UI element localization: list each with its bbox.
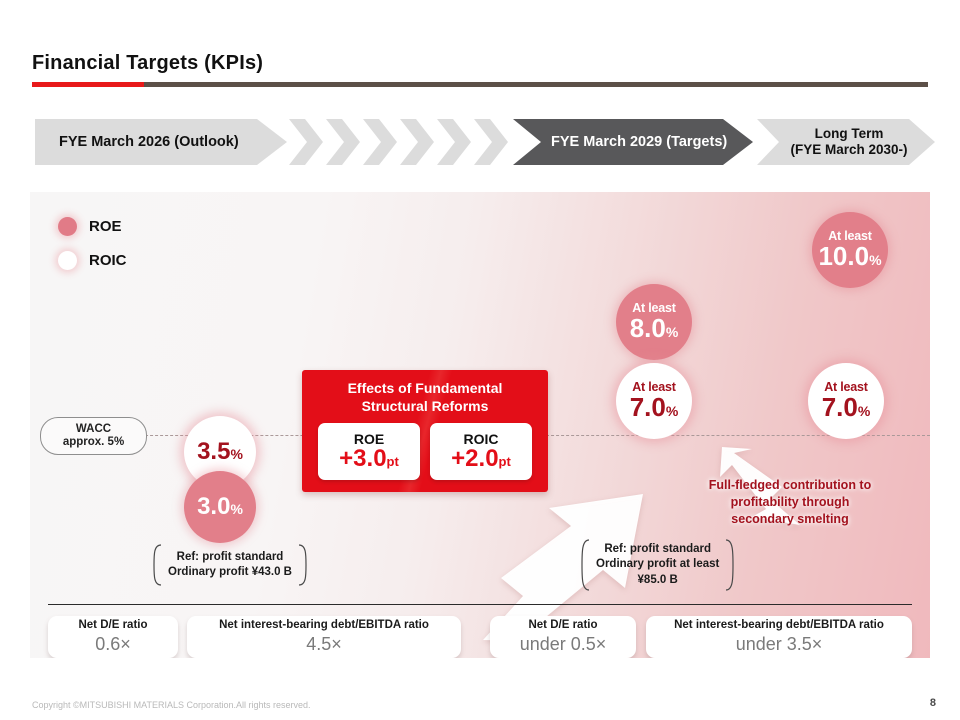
legend-label-roe: ROE [89, 218, 122, 235]
ratio-box-2029-de: Net D/E ratio under 0.5× [490, 616, 636, 658]
effects-card-roic-key: ROIC [464, 432, 499, 447]
ratio-box-2026-ebitda-key: Net interest-bearing debt/EBITDA ratio [219, 619, 429, 633]
ratio-box-2029-ebitda: Net interest-bearing debt/EBITDA ratio u… [646, 616, 912, 658]
ratio-box-2026-de: Net D/E ratio 0.6× [48, 616, 178, 658]
bubble-longterm-roic-value: 7.0% [822, 394, 871, 421]
chart-panel: ROE ROIC WACC approx. 5% 3.5% 3.0% [30, 192, 930, 658]
ref-profit-right-line1: Ref: profit standard [604, 543, 711, 555]
page-number: 8 [930, 697, 936, 709]
bracket-left-icon [576, 539, 590, 591]
phase-banner: FYE March 2026 (Outlook) FYE March 2029 … [35, 119, 935, 165]
ref-profit-right-line2: Ordinary profit at least [596, 558, 719, 570]
phase-segment-longterm: Long Term (FYE March 2030-) [757, 119, 935, 165]
title-rule-brown-segment [144, 82, 928, 87]
ratio-box-2026-de-key: Net D/E ratio [78, 619, 147, 633]
phase-segment-2026: FYE March 2026 (Outlook) [35, 119, 287, 165]
slide-root: Financial Targets (KPIs) FYE March 2026 … [0, 0, 960, 720]
ref-profit-left: Ref: profit standard Ordinary profit ¥43… [148, 544, 312, 586]
bubble-2029-roe: At least 8.0% [616, 284, 692, 360]
ref-profit-right-line3: ¥85.0 B [638, 574, 678, 586]
bubble-2026-roic-value: 3.5% [197, 439, 243, 464]
annotation-line2: profitability through [731, 495, 850, 509]
bubble-longterm-roic: At least 7.0% [808, 363, 884, 439]
ratio-box-2026-ebitda: Net interest-bearing debt/EBITDA ratio 4… [187, 616, 461, 658]
effects-card-roe: ROE +3.0pt [318, 423, 420, 480]
chevron-icon [400, 119, 434, 165]
legend: ROE ROIC [58, 212, 127, 280]
phase-segment-2029: FYE March 2029 (Targets) [513, 119, 753, 165]
bubble-longterm-roe-value: 10.0% [818, 243, 881, 270]
bubble-2029-roic-value: 7.0% [630, 394, 679, 421]
bubble-2026-roe: 3.0% [184, 471, 256, 543]
effects-card-roe-value: +3.0pt [339, 446, 399, 471]
effects-box-title-line1: Effects of Fundamental [348, 380, 503, 396]
filled-circle-icon [58, 217, 77, 236]
ref-profit-left-text: Ref: profit standard Ordinary profit ¥43… [162, 550, 298, 580]
ref-profit-right: Ref: profit standard Ordinary profit at … [576, 539, 739, 591]
annotation-line1: Full-fledged contribution to [709, 478, 871, 492]
effects-card-group: ROE +3.0pt ROIC +2.0pt [302, 423, 548, 480]
phase-label-longterm-line1: Long Term [815, 126, 884, 141]
phase-label-longterm-line2: (FYE March 2030-) [790, 142, 907, 157]
ratio-box-2029-de-key: Net D/E ratio [528, 619, 597, 633]
bracket-right-icon [725, 539, 739, 591]
chevron-icon [437, 119, 471, 165]
chevron-icon [363, 119, 397, 165]
wacc-label-line2: approx. 5% [63, 436, 124, 449]
effects-card-roic-value: +2.0pt [451, 446, 511, 471]
legend-label-roic: ROIC [89, 252, 127, 269]
effects-card-roic: ROIC +2.0pt [430, 423, 532, 480]
annotation-line3: secondary smelting [731, 512, 848, 526]
bracket-right-icon [298, 544, 312, 586]
phase-label-2029: FYE March 2029 (Targets) [513, 134, 727, 150]
ratio-box-2029-de-value: under 0.5× [520, 634, 607, 656]
legend-item-roe: ROE [58, 212, 127, 240]
ref-profit-left-line1: Ref: profit standard [177, 551, 284, 563]
chevron-group [289, 119, 511, 165]
ratio-box-2029-ebitda-key: Net interest-bearing debt/EBITDA ratio [674, 619, 884, 633]
effects-card-roe-key: ROE [354, 432, 384, 447]
effects-box-title: Effects of Fundamental Structural Reform… [302, 370, 548, 415]
chevron-icon [474, 119, 508, 165]
hollow-circle-icon [58, 251, 77, 270]
phase-label-2026: FYE March 2026 (Outlook) [35, 134, 239, 150]
title-rule [32, 82, 928, 87]
phase-label-longterm: Long Term (FYE March 2030-) [784, 126, 907, 158]
ref-profit-left-line2: Ordinary profit ¥43.0 B [168, 566, 292, 578]
bubble-2026-roe-value: 3.0% [197, 494, 243, 519]
page-title: Financial Targets (KPIs) [32, 52, 263, 75]
wacc-label-line1: WACC [76, 423, 111, 436]
bubble-2029-roe-value: 8.0% [630, 315, 679, 342]
secondary-smelting-annotation: Full-fledged contribution to profitabili… [690, 477, 890, 528]
chevron-icon [289, 119, 323, 165]
copyright-footer: Copyright ©MITSUBISHI MATERIALS Corporat… [32, 700, 311, 710]
title-rule-red-segment [32, 82, 144, 87]
bottom-separator [48, 604, 912, 605]
bubble-longterm-roe: At least 10.0% [812, 212, 888, 288]
chevron-icon [326, 119, 360, 165]
ref-profit-right-text: Ref: profit standard Ordinary profit at … [590, 542, 725, 588]
bubble-2029-roic: At least 7.0% [616, 363, 692, 439]
effects-box: Effects of Fundamental Structural Reform… [302, 370, 548, 492]
effects-box-title-line2: Structural Reforms [362, 398, 489, 414]
ratio-box-2029-ebitda-value: under 3.5× [736, 634, 823, 656]
ratio-box-2026-ebitda-value: 4.5× [306, 634, 342, 656]
bracket-left-icon [148, 544, 162, 586]
wacc-label: WACC approx. 5% [40, 417, 147, 455]
legend-item-roic: ROIC [58, 246, 127, 274]
ratio-box-2026-de-value: 0.6× [95, 634, 131, 656]
